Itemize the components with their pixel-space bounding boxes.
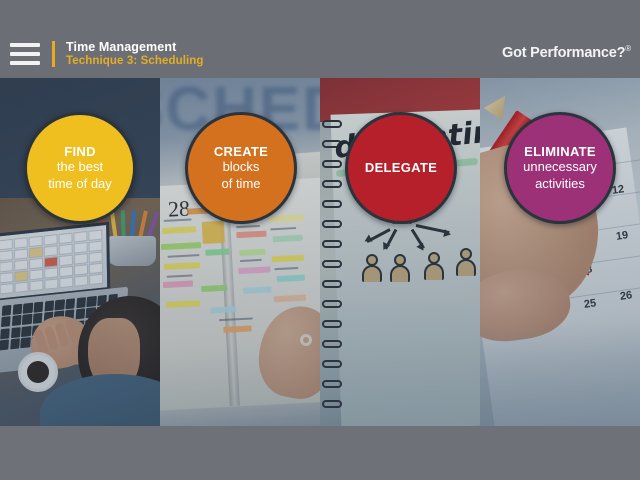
circle-find-line2: the best bbox=[57, 159, 103, 175]
registered-mark-icon: ® bbox=[625, 44, 631, 53]
header-titles: Time Management Technique 3: Scheduling bbox=[66, 40, 204, 68]
circle-create-keyword: CREATE bbox=[214, 144, 268, 159]
circle-delegate[interactable]: DELEGATE bbox=[345, 112, 457, 224]
header-bar: Time Management Technique 3: Scheduling … bbox=[0, 0, 640, 78]
circle-eliminate-line3: activities bbox=[535, 176, 585, 192]
hamburger-menu-icon[interactable] bbox=[10, 43, 40, 65]
hamburger-bar-2 bbox=[10, 52, 40, 56]
circle-find-line3: time of day bbox=[48, 176, 112, 192]
page-subtitle: Technique 3: Scheduling bbox=[66, 55, 204, 68]
hamburger-bar-3 bbox=[10, 61, 40, 65]
circle-find-keyword: FIND bbox=[64, 144, 96, 159]
circle-eliminate-line2: unnecessary bbox=[523, 159, 597, 175]
header-accent-divider bbox=[52, 41, 55, 67]
brand-text: Got Performance? bbox=[502, 45, 625, 61]
slide-stage: Time Management Technique 3: Scheduling … bbox=[0, 0, 640, 480]
circle-eliminate-keyword: ELIMINATE bbox=[524, 144, 596, 159]
circle-find[interactable]: FIND the best time of day bbox=[24, 112, 136, 224]
circle-create-line3: of time bbox=[221, 176, 260, 192]
circle-create-line2: blocks bbox=[223, 159, 260, 175]
circle-create[interactable]: CREATE blocks of time bbox=[185, 112, 297, 224]
circle-delegate-keyword: DELEGATE bbox=[365, 160, 437, 175]
hamburger-bar-1 bbox=[10, 43, 40, 47]
brand-logo: Got Performance?® bbox=[502, 44, 631, 61]
page-title: Time Management bbox=[66, 40, 204, 54]
circle-eliminate[interactable]: ELIMINATE unnecessary activities bbox=[504, 112, 616, 224]
